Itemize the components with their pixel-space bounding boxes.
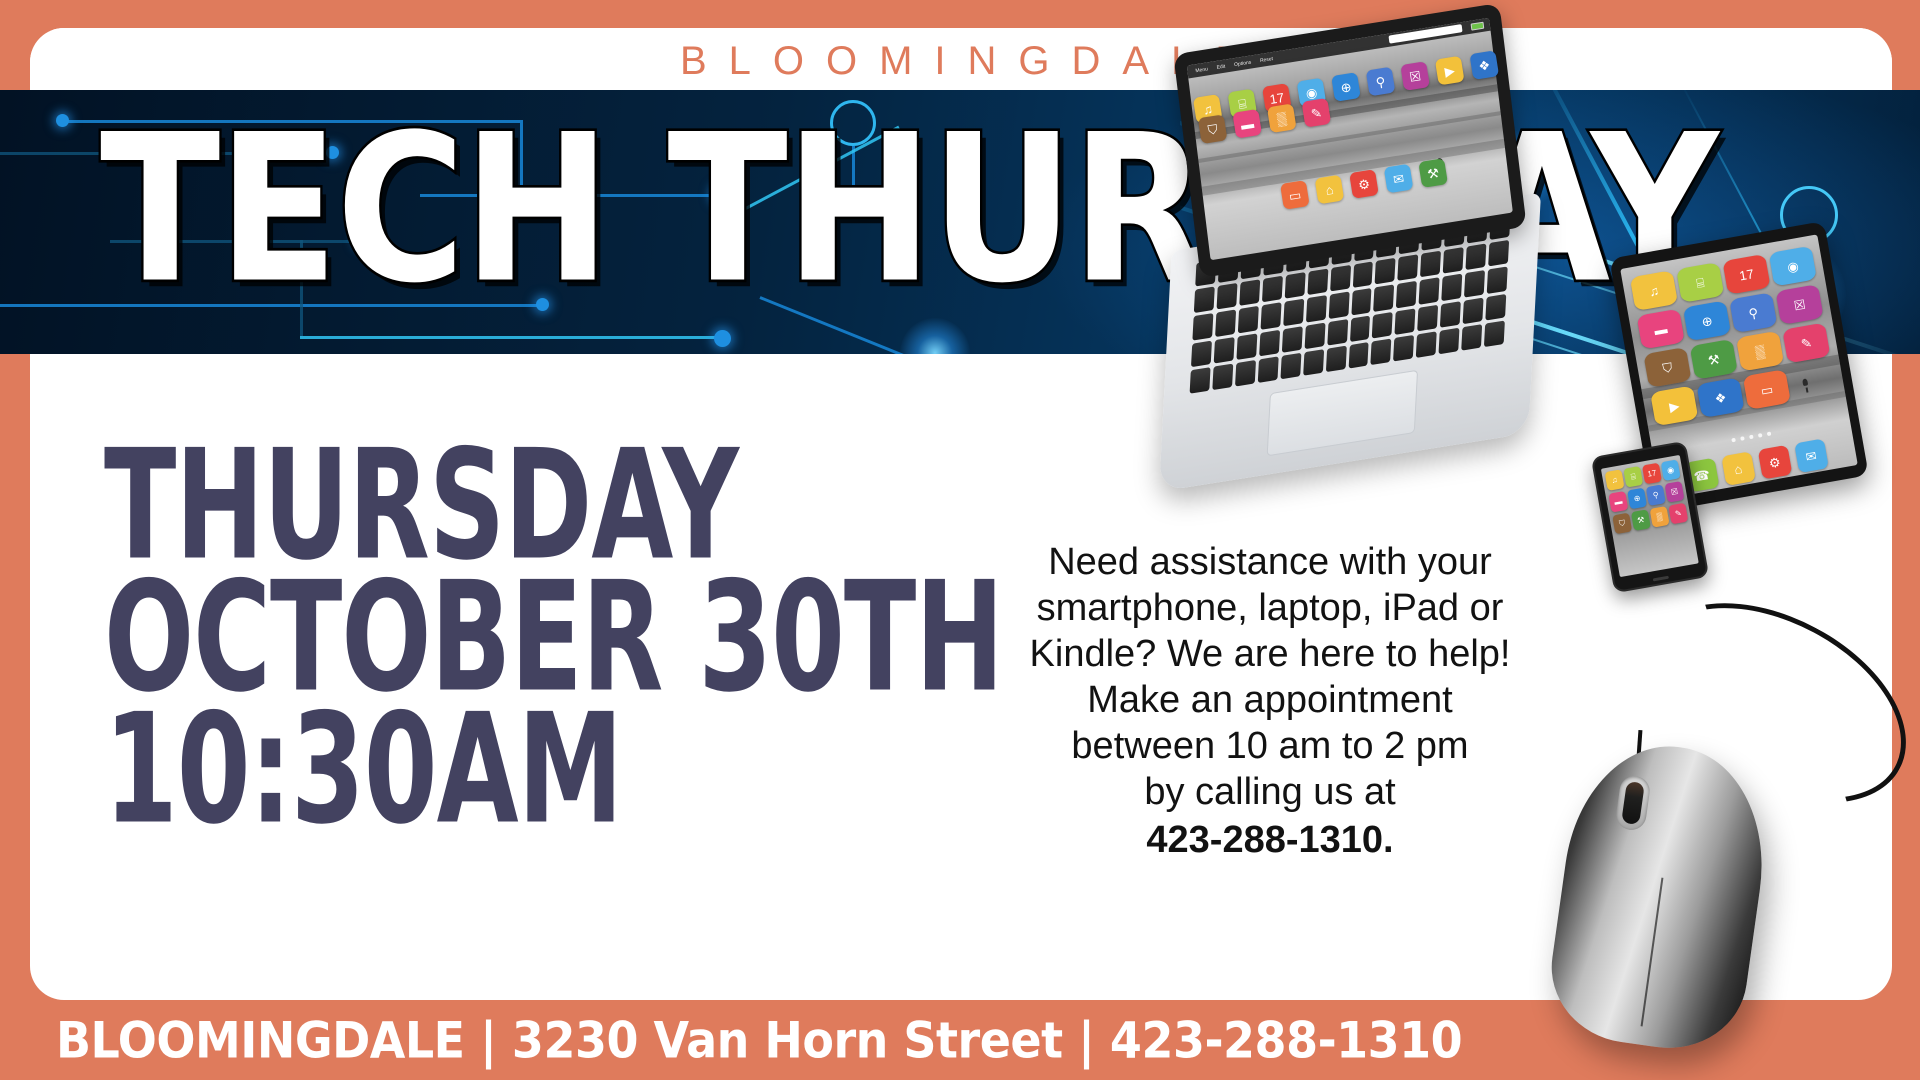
event-date-block: THURSDAY OCTOBER 30TH 10:30AM <box>104 432 985 828</box>
footer-contact-info: BLOOMINGDALE | 3230 Van Horn Street | 42… <box>56 1011 1462 1069</box>
desc-line-6: by calling us at <box>1144 771 1395 813</box>
computer-mouse-image <box>1540 690 1790 1050</box>
circuit-node <box>714 330 731 347</box>
page-title: TECH THURSDAY <box>100 108 1716 312</box>
circuit-node <box>56 114 69 127</box>
event-description: Need assistance with your smartphone, la… <box>1000 540 1540 864</box>
desc-line-4: Make an appointment <box>1087 679 1452 721</box>
contact-phone-number: 423-288-1310. <box>1146 818 1393 864</box>
desc-line-3: Kindle? We are here to help! <box>1030 633 1511 675</box>
circuit-trace <box>300 336 720 339</box>
brand-name: BLOOMINGDALE <box>658 41 1264 81</box>
event-time: 10:30AM <box>104 696 1003 845</box>
desc-line-1: Need assistance with your <box>1048 541 1492 583</box>
brand-header: BLOOMINGDALE <box>30 28 1892 94</box>
desc-line-2: smartphone, laptop, iPad or <box>1037 587 1504 629</box>
desc-line-5: between 10 am to 2 pm <box>1071 725 1468 767</box>
